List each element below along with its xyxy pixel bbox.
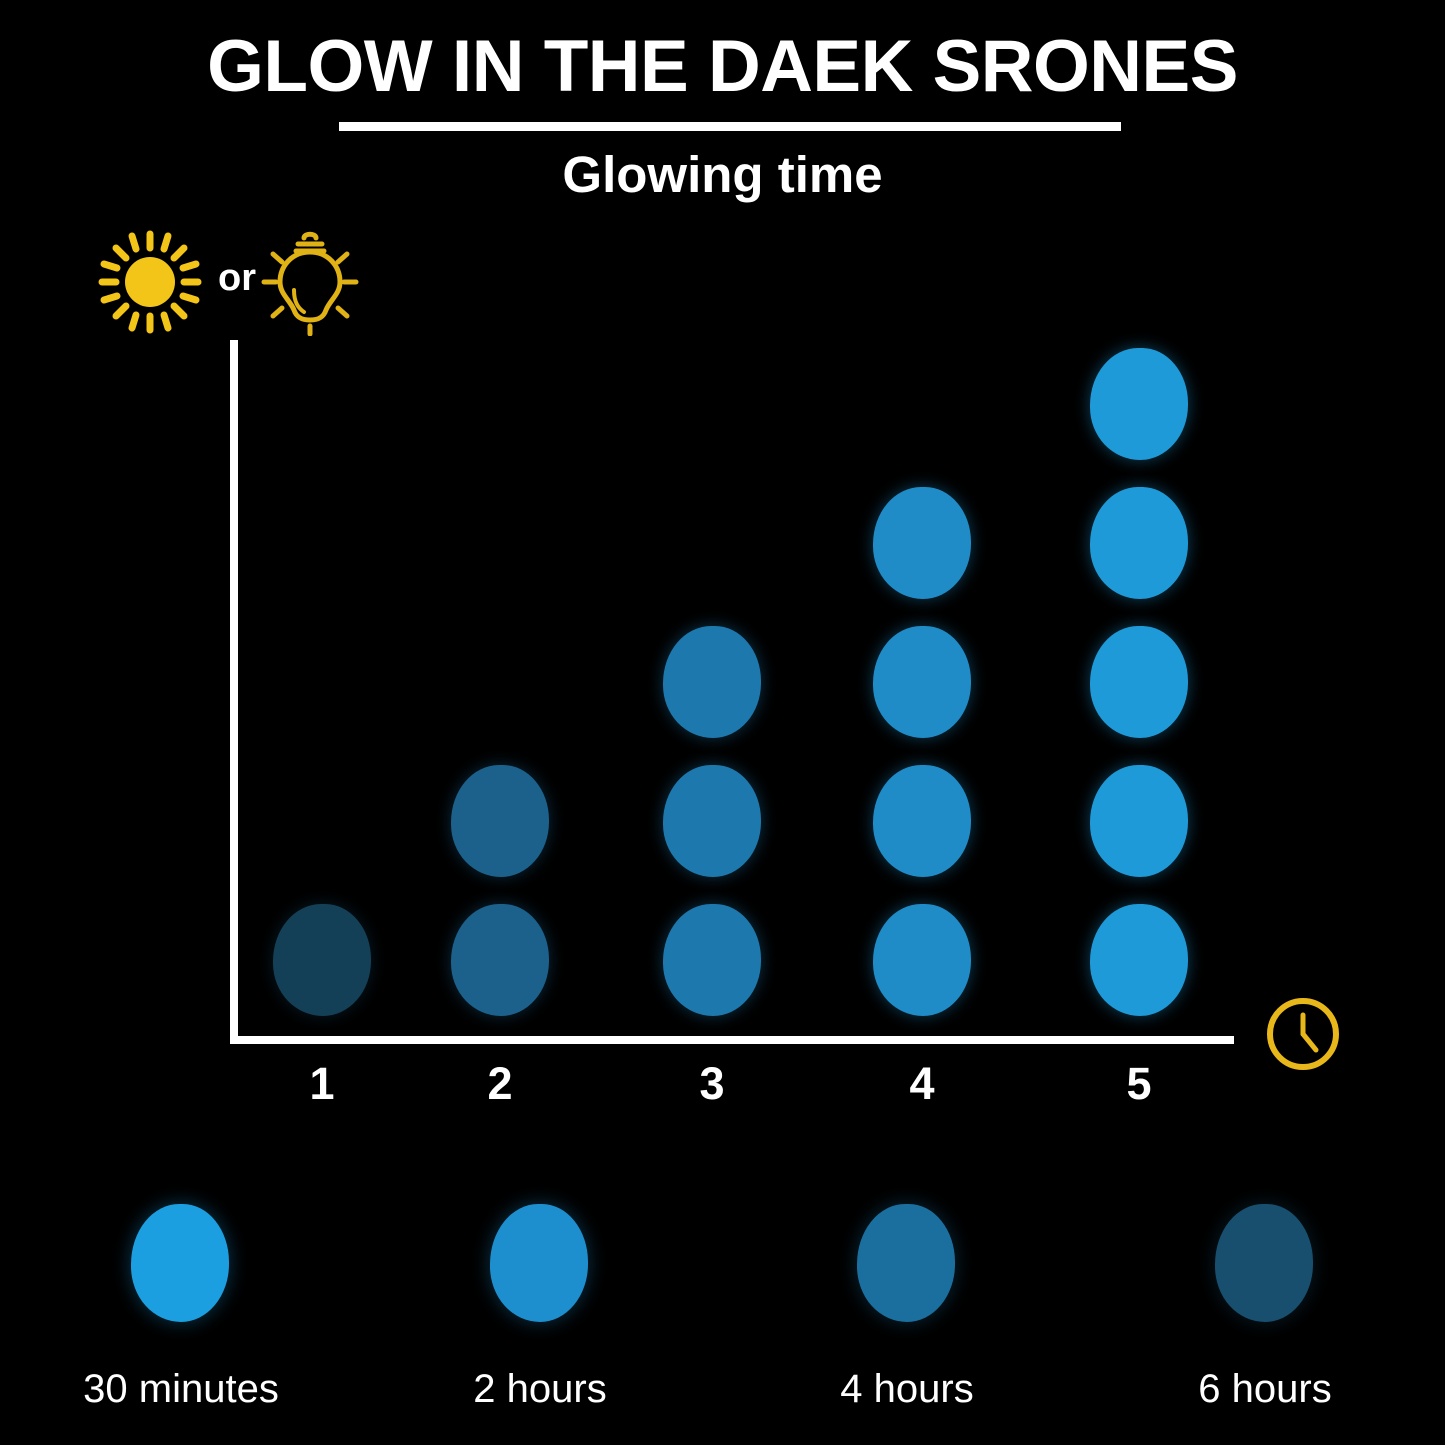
legend-item: 4 hours [752, 1180, 1062, 1440]
stone-marker [1090, 348, 1188, 460]
legend-swatch-wrap [1110, 1204, 1420, 1344]
legend-swatch-wrap [26, 1204, 336, 1344]
legend-label: 30 minutes [26, 1365, 336, 1413]
legend-stone-swatch [490, 1204, 588, 1322]
x-axis-line [230, 1036, 1234, 1044]
x-tick-label-2: 2 [460, 1056, 540, 1112]
legend-label: 4 hours [752, 1365, 1062, 1413]
legend-label: 6 hours [1110, 1365, 1420, 1413]
legend-swatch-wrap [752, 1204, 1062, 1344]
stone-marker [1090, 765, 1188, 877]
legend-label: 2 hours [385, 1365, 695, 1413]
legend-item: 30 minutes [26, 1180, 336, 1440]
x-tick-label-3: 3 [672, 1056, 752, 1112]
legend-stone-swatch [131, 1204, 229, 1322]
stone-marker [873, 626, 971, 738]
legend-swatch-wrap [385, 1204, 695, 1344]
stone-marker [1090, 487, 1188, 599]
stone-marker [451, 765, 549, 877]
stone-marker [1090, 904, 1188, 1016]
stone-marker [663, 765, 761, 877]
y-axis-line [230, 340, 238, 1044]
stone-marker [663, 626, 761, 738]
x-tick-label-4: 4 [882, 1056, 962, 1112]
legend-item: 2 hours [385, 1180, 695, 1440]
stone-marker [663, 904, 761, 1016]
legend-stone-swatch [1215, 1204, 1313, 1322]
x-tick-label-5: 5 [1099, 1056, 1179, 1112]
legend: 30 minutes2 hours4 hours6 hours [0, 1180, 1445, 1445]
chart-area: 12345 [0, 0, 1445, 1160]
stone-marker [451, 904, 549, 1016]
x-tick-label-1: 1 [282, 1056, 362, 1112]
stone-marker [1090, 626, 1188, 738]
stone-marker [873, 904, 971, 1016]
stone-marker [873, 765, 971, 877]
stone-marker [273, 904, 371, 1016]
legend-stone-swatch [857, 1204, 955, 1322]
legend-item: 6 hours [1110, 1180, 1420, 1440]
clock-icon [1262, 993, 1344, 1080]
stone-marker [873, 487, 971, 599]
